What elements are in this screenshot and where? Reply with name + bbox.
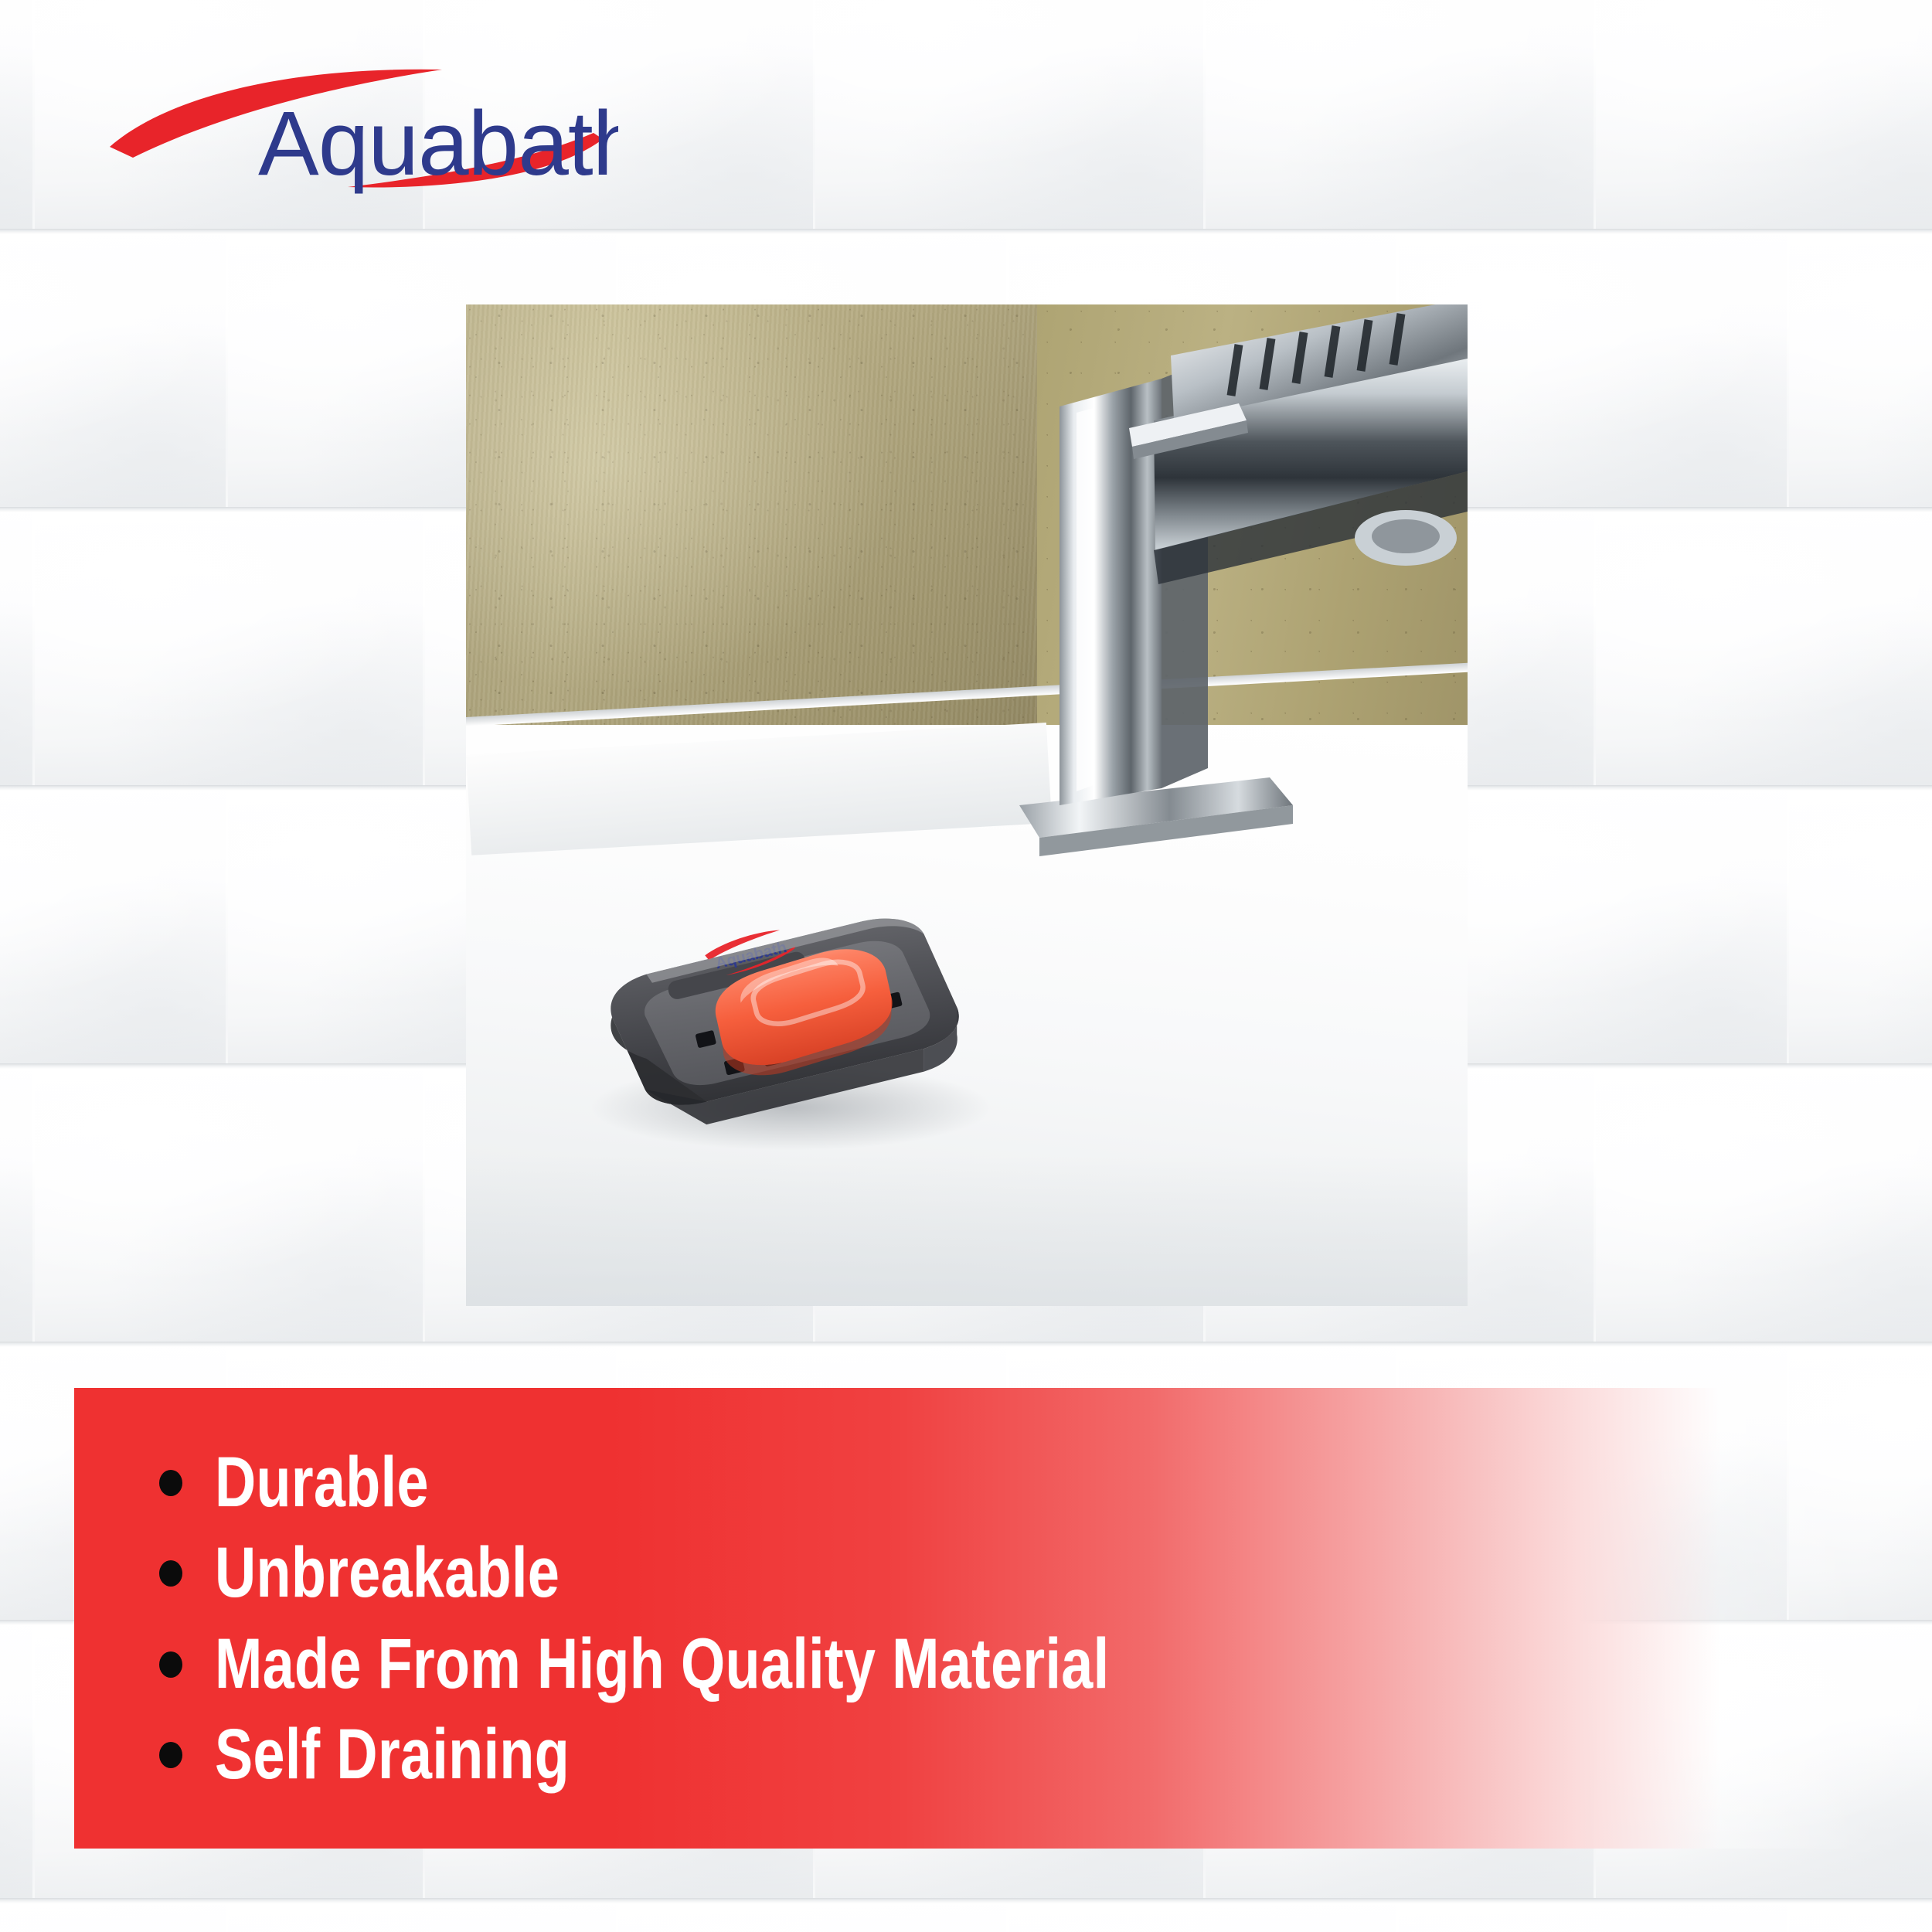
faucet-highlight (1077, 408, 1094, 791)
feature-label: Made From High Quality Material (215, 1628, 1109, 1701)
feature-item: Durable (159, 1447, 1833, 1519)
chrome-faucet-icon (466, 304, 1468, 1306)
tile (35, 1066, 425, 1345)
feature-item: Unbreakable (159, 1537, 1833, 1610)
grout-line-horizontal (0, 1342, 1932, 1347)
tile (0, 0, 35, 232)
tile (228, 1901, 618, 1932)
tile (815, 0, 1206, 232)
brand-logo: Aquabath (93, 60, 618, 199)
tile (1789, 1901, 1932, 1932)
feature-item: Made From High Quality Material (159, 1628, 1833, 1701)
tile (0, 510, 35, 788)
tile (1596, 510, 1932, 788)
tile (1789, 232, 1932, 510)
feature-banner: Durable Unbreakable Made From High Quali… (74, 1388, 1864, 1849)
tile (0, 788, 228, 1066)
tile (1596, 1066, 1932, 1345)
feature-label: Durable (215, 1447, 429, 1519)
tile (1009, 1901, 1399, 1932)
tile (1789, 788, 1932, 1066)
aquabath-swoosh-logo: Aquabath (93, 60, 618, 199)
bullet-icon (159, 1470, 182, 1496)
grout-line-horizontal (0, 229, 1932, 234)
bullet-icon (159, 1651, 182, 1678)
tile (0, 1901, 228, 1932)
feature-item: Self Draining (159, 1719, 1833, 1791)
soap-dish-product: Aquabath (516, 855, 1037, 1156)
tile (0, 1066, 35, 1345)
tile (0, 232, 228, 510)
feature-list: Durable Unbreakable Made From High Quali… (159, 1433, 1833, 1818)
tile (1596, 0, 1932, 232)
feature-label: Unbreakable (215, 1537, 560, 1610)
grout-line-horizontal (0, 1898, 1932, 1903)
poster-canvas: Aquabath (0, 0, 1932, 1932)
tile-row (0, 1901, 1932, 1932)
tile (35, 510, 425, 788)
faucet-aerator-inner (1372, 519, 1440, 553)
bullet-icon (159, 1560, 182, 1587)
tile (1399, 1901, 1789, 1932)
tile (618, 1901, 1009, 1932)
bullet-icon (159, 1742, 182, 1768)
product-photo: Aquabath (466, 304, 1468, 1306)
brand-name: Aquabath (258, 93, 618, 195)
tile (0, 1623, 35, 1901)
tile (1206, 0, 1596, 232)
feature-label: Self Draining (215, 1719, 570, 1791)
